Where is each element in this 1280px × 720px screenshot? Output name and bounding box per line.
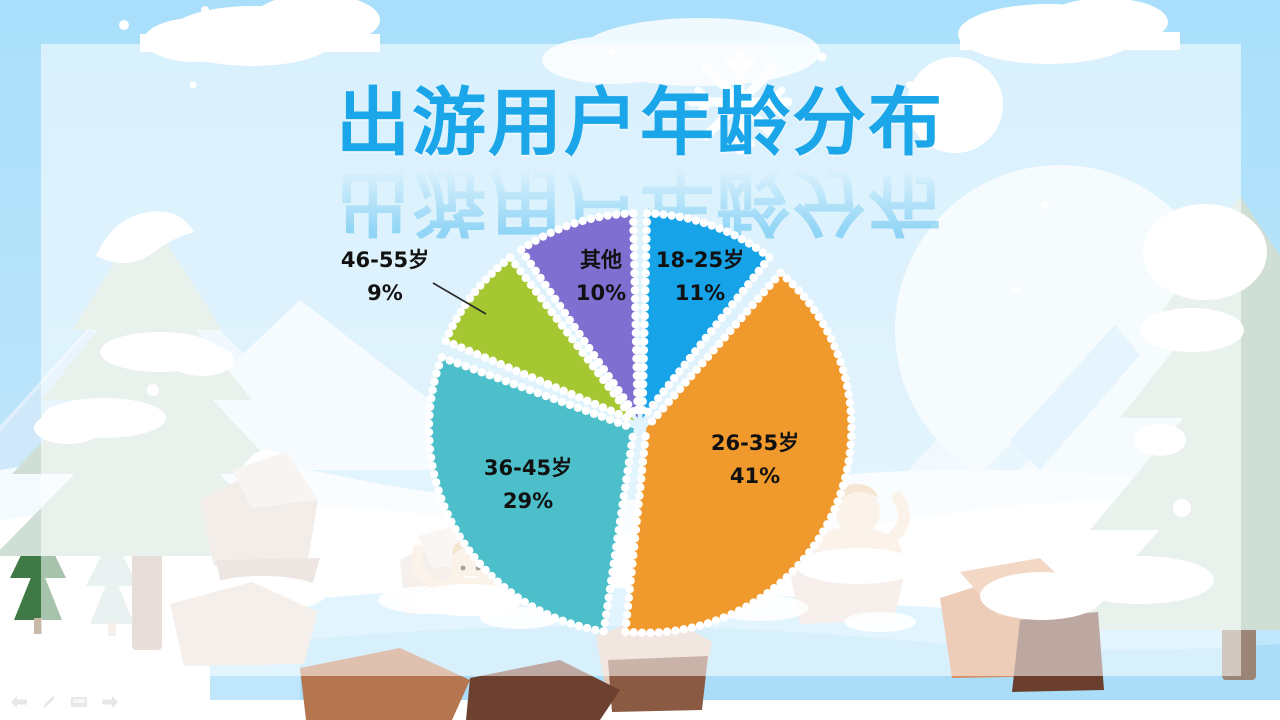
pen-icon[interactable]	[41, 694, 57, 715]
presentation-toolbar[interactable]	[10, 694, 119, 715]
arrow-right-icon[interactable]	[101, 695, 119, 714]
pie-slice-group[interactable]	[425, 209, 856, 637]
slide-icon[interactable]	[70, 695, 88, 714]
slide-canvas: 出游用户年龄分布 出游用户年龄分布 18-25岁11%26-35岁41%36-4…	[0, 0, 1280, 720]
arrow-left-icon[interactable]	[10, 695, 28, 714]
pie-chart[interactable]	[0, 0, 1280, 720]
